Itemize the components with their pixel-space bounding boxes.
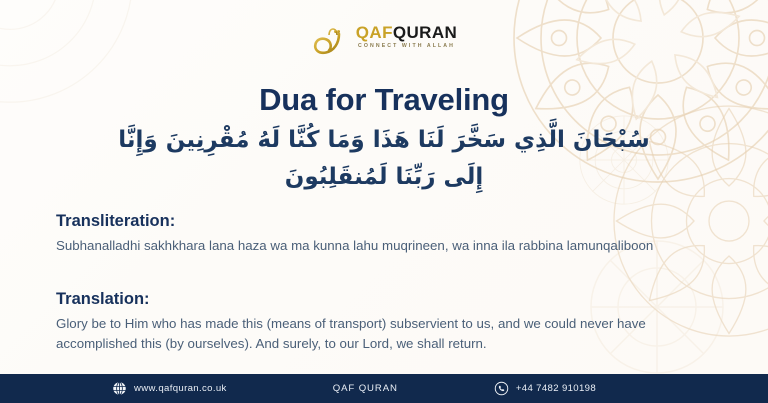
- globe-icon: [112, 381, 127, 396]
- translation-text: Glory be to Him who has made this (means…: [56, 314, 720, 354]
- brand-tagline: CONNECT WITH ALLAH: [356, 44, 457, 49]
- arabic-line-2: إِلَى رَبِّنَا لَمُنقَلِبُونَ: [40, 159, 728, 196]
- transliteration-heading: Transliteration:: [56, 212, 720, 231]
- whatsapp-icon: [494, 381, 509, 396]
- brand-name-quran: QURAN: [393, 23, 457, 42]
- footer-website-label: www.qafquran.co.uk: [134, 383, 227, 394]
- arabic-line-1: سُبْحَانَ الَّذِي سَخَّرَ لَنَا هَذَا وَ…: [40, 122, 728, 159]
- page-title: Dua for Traveling: [0, 82, 768, 118]
- brand-name: QAFQURAN: [356, 24, 457, 41]
- brand-logo[interactable]: QAFQURAN CONNECT WITH ALLAH: [0, 12, 768, 58]
- footer-brand-label: QAF QURAN: [333, 383, 398, 394]
- dua-card: QAFQURAN CONNECT WITH ALLAH Dua for Trav…: [0, 0, 768, 403]
- transliteration-text: Subhanalladhi sakhkhara lana haza wa ma …: [56, 236, 720, 256]
- brand-name-qaf: QAF: [356, 23, 393, 42]
- qaf-calligraphy-logo-icon: [311, 13, 351, 57]
- footer-website[interactable]: www.qafquran.co.uk: [112, 381, 227, 396]
- translation-section: Translation: Glory be to Him who has mad…: [56, 290, 720, 354]
- footer-phone-label: +44 7482 910198: [516, 383, 596, 394]
- footer-bar: www.qafquran.co.uk QAF QURAN +44 7482 91…: [0, 374, 768, 403]
- footer-phone[interactable]: +44 7482 910198: [494, 381, 596, 396]
- transliteration-section: Transliteration: Subhanalladhi sakhkhara…: [56, 212, 720, 256]
- footer-brand: QAF QURAN: [333, 383, 398, 394]
- translation-heading: Translation:: [56, 290, 720, 309]
- arabic-dua-text: سُبْحَانَ الَّذِي سَخَّرَ لَنَا هَذَا وَ…: [40, 122, 728, 197]
